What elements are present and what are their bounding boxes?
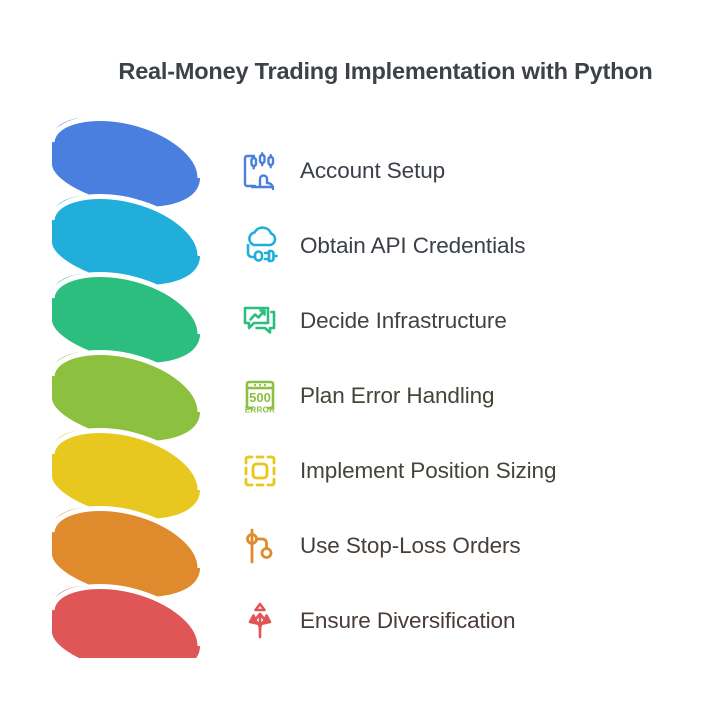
step-label: Implement Position Sizing [300,458,556,484]
step-item-use-stop-loss-orders[interactable]: Use Stop-Loss Orders [236,508,706,583]
mobile-trading-tap-icon [236,147,284,195]
step-label: Obtain API Credentials [300,233,525,259]
step-item-ensure-diversification[interactable]: Ensure Diversification [236,583,706,658]
cloud-plug-icon [236,222,284,270]
spiral-turn-2 [52,195,200,285]
step-item-implement-position-sizing[interactable]: Implement Position Sizing [236,433,706,508]
step-label: Plan Error Handling [300,383,494,409]
step-label: Use Stop-Loss Orders [300,533,521,559]
page-title: Real-Money Trading Implementation with P… [0,58,716,85]
step-item-account-setup[interactable]: Account Setup [236,133,706,208]
diverging-arrows-icon [236,597,284,645]
step-label: Account Setup [300,158,445,184]
steps-list: Account Setup Obtain API Credentials [236,133,706,658]
chat-chart-icon [236,297,284,345]
spiral-turn-4 [52,351,200,441]
step-item-decide-infrastructure[interactable]: Decide Infrastructure [236,283,706,358]
spiral-turn-6 [52,507,200,597]
spiral-turn-3 [52,273,200,363]
icon-error-text: ERROR [245,405,275,414]
dashed-selection-box-icon [236,447,284,495]
infographic-page: Real-Money Trading Implementation with P… [0,0,716,713]
branch-node-icon [236,522,284,570]
step-label: Decide Infrastructure [300,308,507,334]
step-label: Ensure Diversification [300,608,515,634]
spiral-turn-5 [52,429,200,519]
spiral-coil-graphic [22,108,222,658]
step-item-obtain-api-credentials[interactable]: Obtain API Credentials [236,208,706,283]
spiral-turn-7 [52,585,200,658]
step-item-plan-error-handling[interactable]: 500 ERROR Plan Error Handling [236,358,706,433]
spiral-turns [52,117,200,658]
browser-500-error-icon: 500 ERROR [236,372,284,420]
spiral-svg [22,108,222,658]
icon-500-text: 500 [249,390,271,405]
